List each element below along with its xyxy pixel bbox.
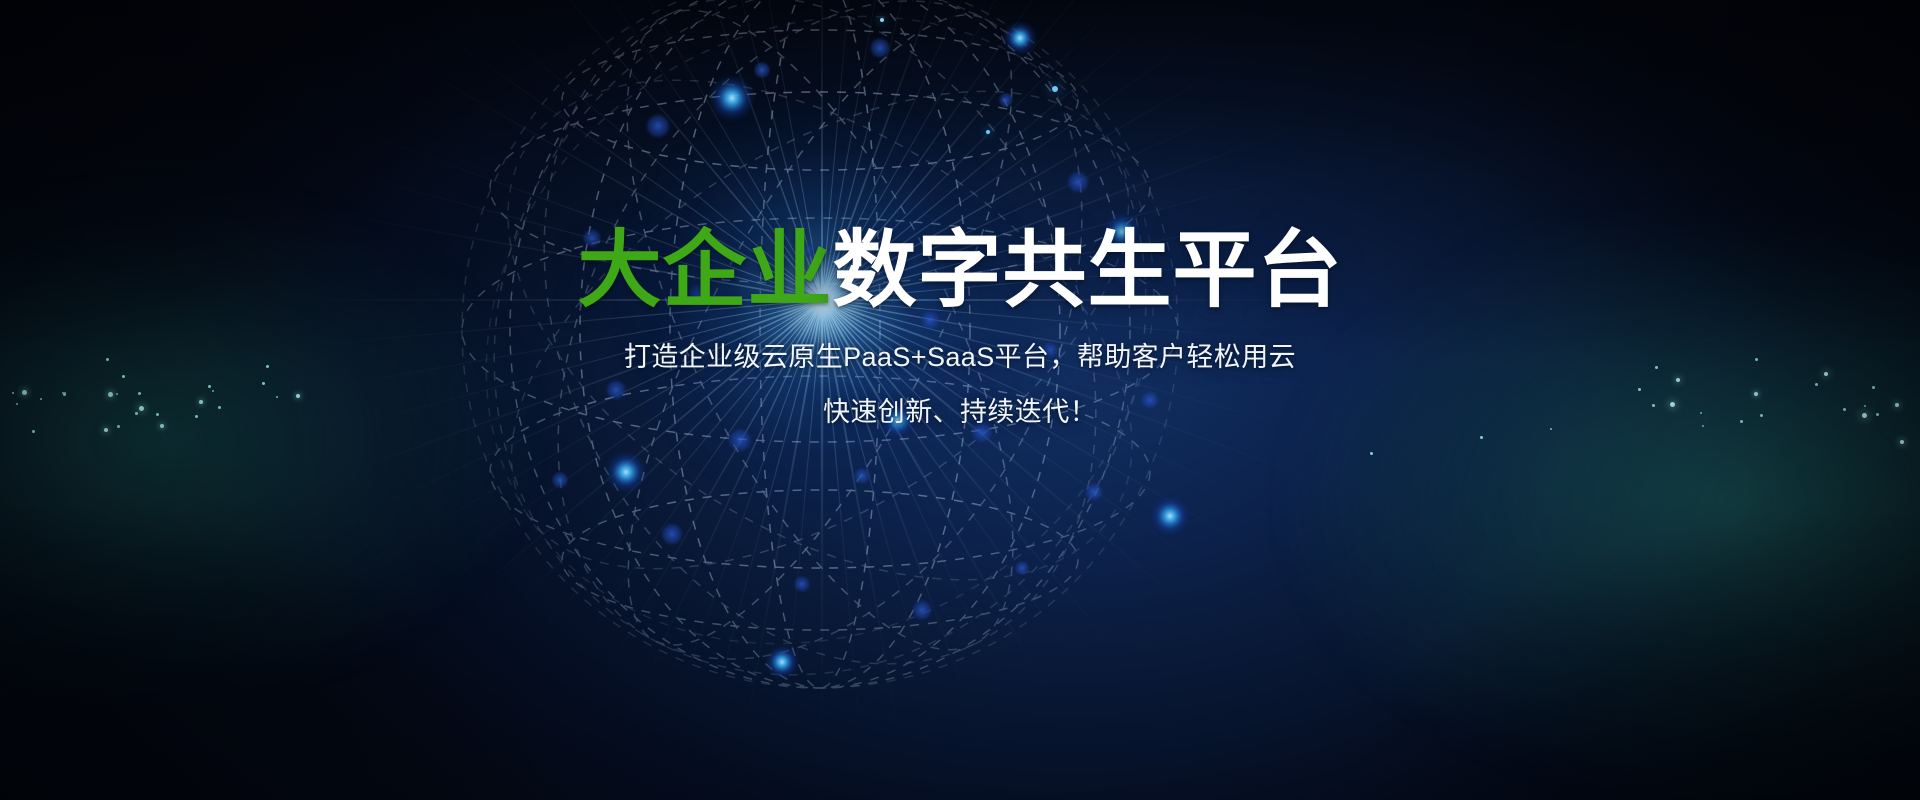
title-accent-text: 大企业 — [577, 223, 832, 317]
subtitle-line-2: 快速创新、持续迭代！ — [0, 379, 1920, 435]
title-main-text: 数字共生平台 — [833, 223, 1343, 317]
hero-subtitle: 打造企业级云原生PaaS+SaaS平台，帮助客户轻松用云 快速创新、持续迭代！ — [0, 314, 1920, 435]
hero-banner: 大企业数字共生平台 打造企业级云原生PaaS+SaaS平台，帮助客户轻松用云 快… — [0, 0, 1920, 800]
page-title: 大企业数字共生平台 — [0, 228, 1920, 314]
subtitle-line-1: 打造企业级云原生PaaS+SaaS平台，帮助客户轻松用云 — [0, 336, 1920, 380]
hero-content: 大企业数字共生平台 打造企业级云原生PaaS+SaaS平台，帮助客户轻松用云 快… — [0, 228, 1920, 435]
